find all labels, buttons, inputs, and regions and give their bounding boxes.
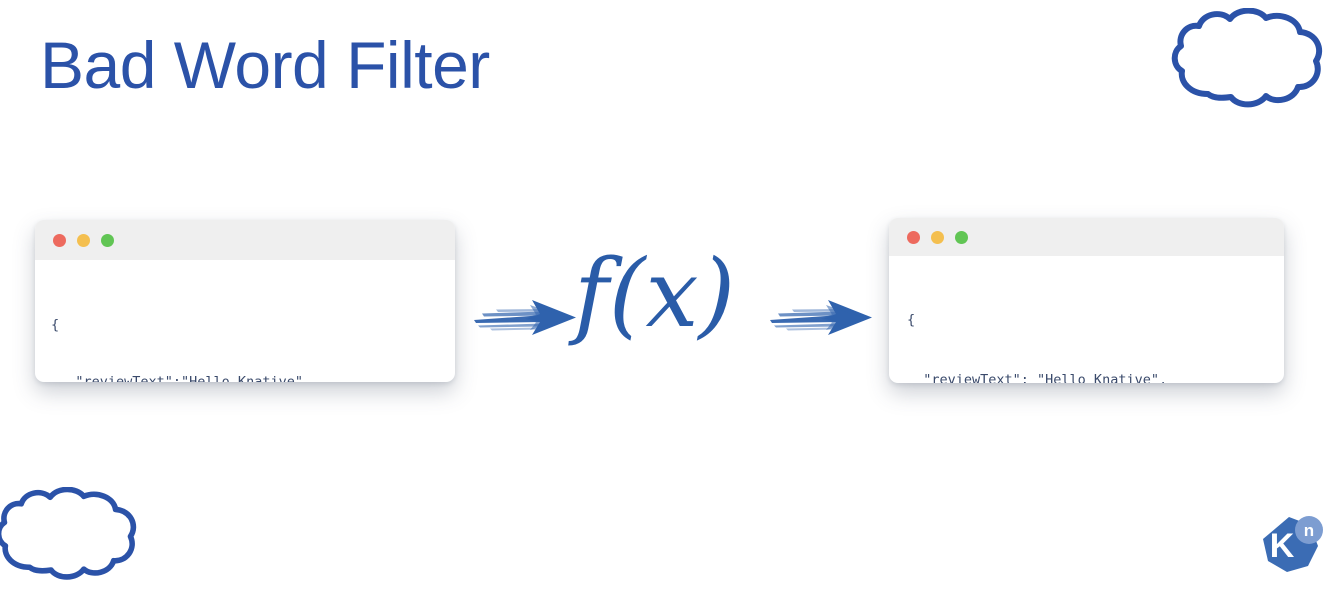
knative-logo: K n: [1258, 512, 1326, 585]
minimize-dot[interactable]: [931, 231, 944, 244]
function-symbol: f(x): [574, 248, 735, 342]
close-dot[interactable]: [53, 234, 66, 247]
close-dot[interactable]: [907, 231, 920, 244]
arrow-function-to-output-icon: [768, 296, 876, 343]
code-line: "reviewText": "Hello Knative",: [907, 370, 1284, 383]
cloud-top-right-icon: [1168, 8, 1328, 118]
input-json-window: { "reviewText":"Hello Knative" }: [35, 220, 455, 382]
code-line: {: [907, 310, 1284, 330]
code-line: "reviewText":"Hello Knative": [51, 373, 455, 382]
arrow-input-to-function-icon: [472, 296, 580, 343]
output-json-code: { "reviewText": "Hello Knative", "badWor…: [889, 256, 1284, 383]
window-titlebar: [35, 220, 455, 260]
output-json-window: { "reviewText": "Hello Knative", "badWor…: [889, 218, 1284, 383]
window-titlebar: [889, 218, 1284, 256]
cloud-bottom-left-icon: [0, 487, 142, 590]
input-json-code: { "reviewText":"Hello Knative" }: [35, 260, 455, 382]
page-title: Bad Word Filter: [40, 28, 490, 104]
svg-text:n: n: [1304, 521, 1314, 540]
code-line: {: [51, 316, 455, 335]
minimize-dot[interactable]: [77, 234, 90, 247]
maximize-dot[interactable]: [955, 231, 968, 244]
maximize-dot[interactable]: [101, 234, 114, 247]
svg-text:K: K: [1270, 527, 1295, 565]
